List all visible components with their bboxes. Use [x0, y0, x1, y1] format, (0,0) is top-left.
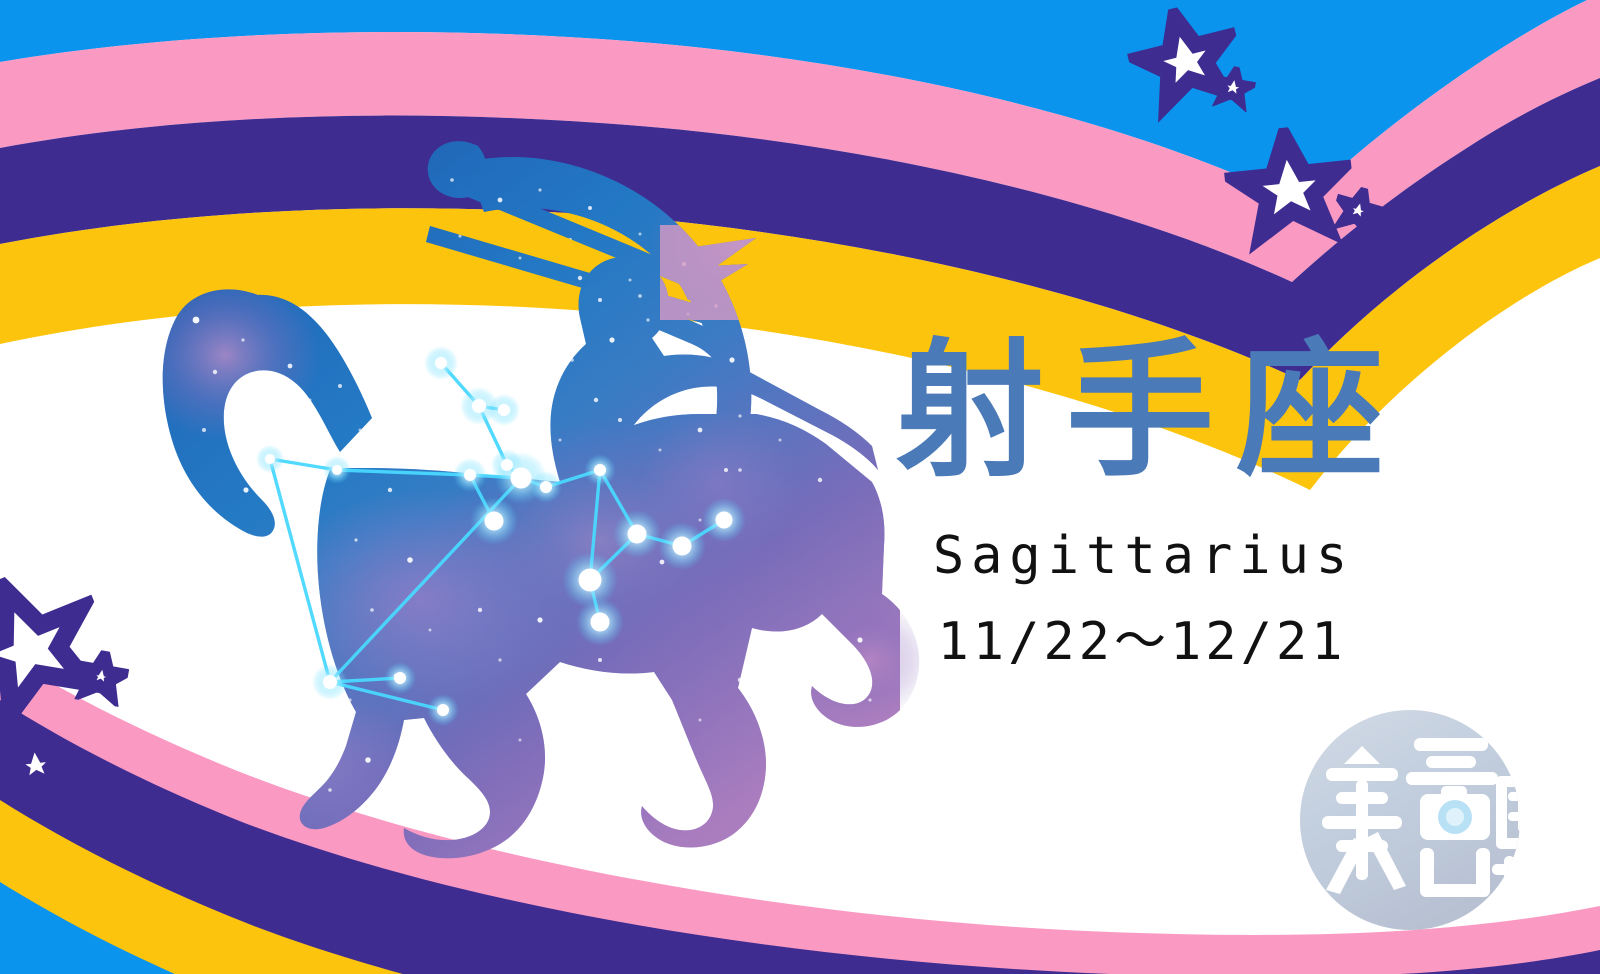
zodiac-card: 射手座 Sagittarius 11/22～12/21 — [0, 0, 1600, 974]
mirror-media-logo-watermark — [1296, 706, 1524, 934]
page-title: 射手座 — [882, 338, 1420, 486]
logo-svg — [1296, 706, 1524, 934]
zodiac-name-latin: Sagittarius — [867, 530, 1420, 582]
zodiac-date-range: 11/22～12/21 — [864, 616, 1420, 668]
zodiac-text-block: 射手座 Sagittarius 11/22～12/21 — [860, 338, 1420, 668]
